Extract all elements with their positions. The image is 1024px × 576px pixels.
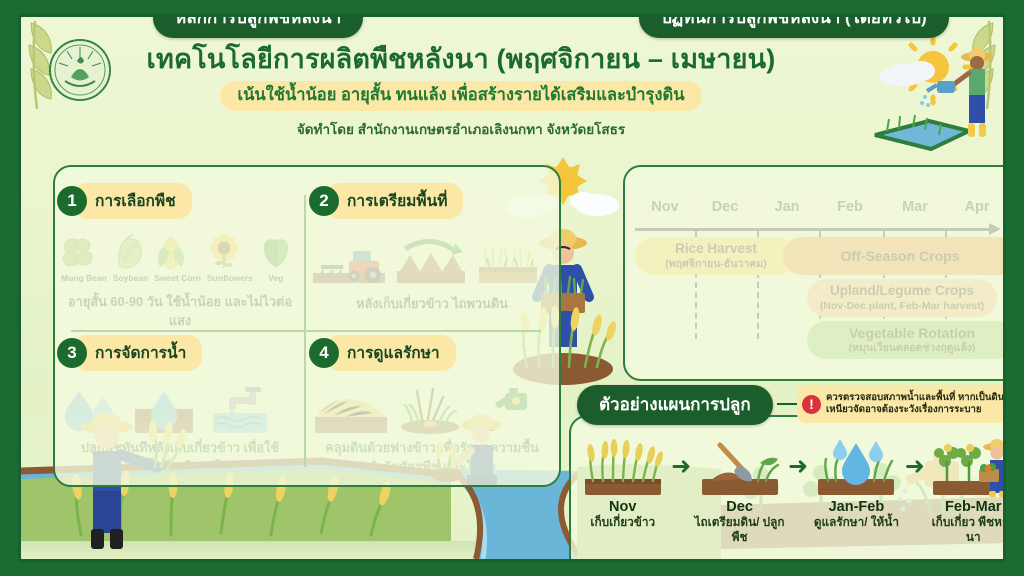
plan-step-desc: เก็บเกี่ยว พืชหลังนา xyxy=(927,515,1006,544)
step-number-badge: 2 xyxy=(309,186,339,216)
plan-step-art xyxy=(927,435,1006,497)
hoe-soil-prep-icon xyxy=(698,437,782,497)
poster-inner-frame: เทคโนโลยีการผลิตพืชหลังนา (พฤศจิกายน – เ… xyxy=(18,14,1006,562)
plan-step-month: Feb-Mar xyxy=(927,499,1006,515)
plan-step: Nov เก็บเกี่ยวข้าว xyxy=(577,435,669,530)
step-title: การเลือกพืช xyxy=(73,183,192,219)
plan-step-desc: ไถเตรียมดิน/ ปลูกพืช xyxy=(694,515,786,544)
step-number-badge: 1 xyxy=(57,186,87,216)
top-right-scenery xyxy=(873,35,1006,165)
watering-seedlings-icon xyxy=(814,437,898,497)
cloud-icon xyxy=(879,61,935,86)
calendar-panel-header: ปฏิทินการปลูกพืชหลังนา (โดยทั่วไป) xyxy=(639,14,949,38)
ripe-rice-field-icon xyxy=(581,437,665,497)
plan-step: Dec ไถเตรียมดิน/ ปลูกพืช xyxy=(694,435,786,544)
byline-text: จัดทำโดย สำนักงานเกษตรอำเภอเลิงนกทา จังห… xyxy=(131,118,791,140)
page-title: เทคโนโลยีการผลิตพืชหลังนา (พฤศจิกายน – เ… xyxy=(131,43,791,75)
plan-step-month: Jan-Feb xyxy=(811,499,903,515)
step-title: การเตรียมพื้นที่ xyxy=(325,183,463,219)
plan-arrow-icon: ➜ xyxy=(669,435,694,497)
subtitle-banner: เน้นใช้น้ำน้อย อายุสั้น ทนแล้ง เพื่อสร้า… xyxy=(220,81,703,111)
plan-step-month: Nov xyxy=(577,499,669,515)
plan-step-desc: ดูแลรักษา/ ให้น้ำ xyxy=(811,515,903,530)
harvest-farmer-icon xyxy=(931,437,1006,497)
warning-note: ! ควรตรวจสอบสภาพน้ำและพื้นที่ หากเป็นดิน… xyxy=(797,385,1006,423)
step-title: การจัดการน้ำ xyxy=(73,335,202,371)
step-number-badge: 3 xyxy=(57,338,87,368)
principles-panel-header: หลักการปลูกพืชหลังนา xyxy=(153,14,363,38)
plan-panel-header: ตัวอย่างแผนการปลูก xyxy=(577,385,773,425)
step-title: การดูแลรักษา xyxy=(325,335,456,371)
plan-step: Jan-Feb ดูแลรักษา/ ให้น้ำ xyxy=(811,435,903,530)
step-number-badge: 4 xyxy=(309,338,339,368)
warning-connector-line xyxy=(777,403,799,405)
exclamation-icon: ! xyxy=(802,395,821,414)
plan-step-month: Dec xyxy=(694,499,786,515)
infographic-poster: เทคโนโลยีการผลิตพืชหลังนา (พฤศจิกายน – เ… xyxy=(0,0,1024,576)
plan-step-art xyxy=(811,435,903,497)
plan-steps-row: Nov เก็บเกี่ยวข้าว ➜ xyxy=(577,435,1006,562)
plan-step-art xyxy=(694,435,786,497)
plan-step-art xyxy=(577,435,669,497)
plan-step-desc: เก็บเกี่ยวข้าว xyxy=(577,515,669,530)
provincial-agriculture-seal-icon xyxy=(47,37,113,103)
plan-arrow-icon: ➜ xyxy=(902,435,927,497)
plan-step: Feb-Mar เก็บเกี่ยว พืชหลังนา xyxy=(927,435,1006,544)
plan-arrow-icon: ➜ xyxy=(785,435,810,497)
title-block: เทคโนโลยีการผลิตพืชหลังนา (พฤศจิกายน – เ… xyxy=(131,43,791,140)
panel-divider-horizontal xyxy=(71,330,541,332)
warning-text: ควรตรวจสอบสภาพน้ำและพื้นที่ หากเป็นดินเห… xyxy=(826,392,1006,417)
planting-calendar-panel xyxy=(623,165,1006,381)
